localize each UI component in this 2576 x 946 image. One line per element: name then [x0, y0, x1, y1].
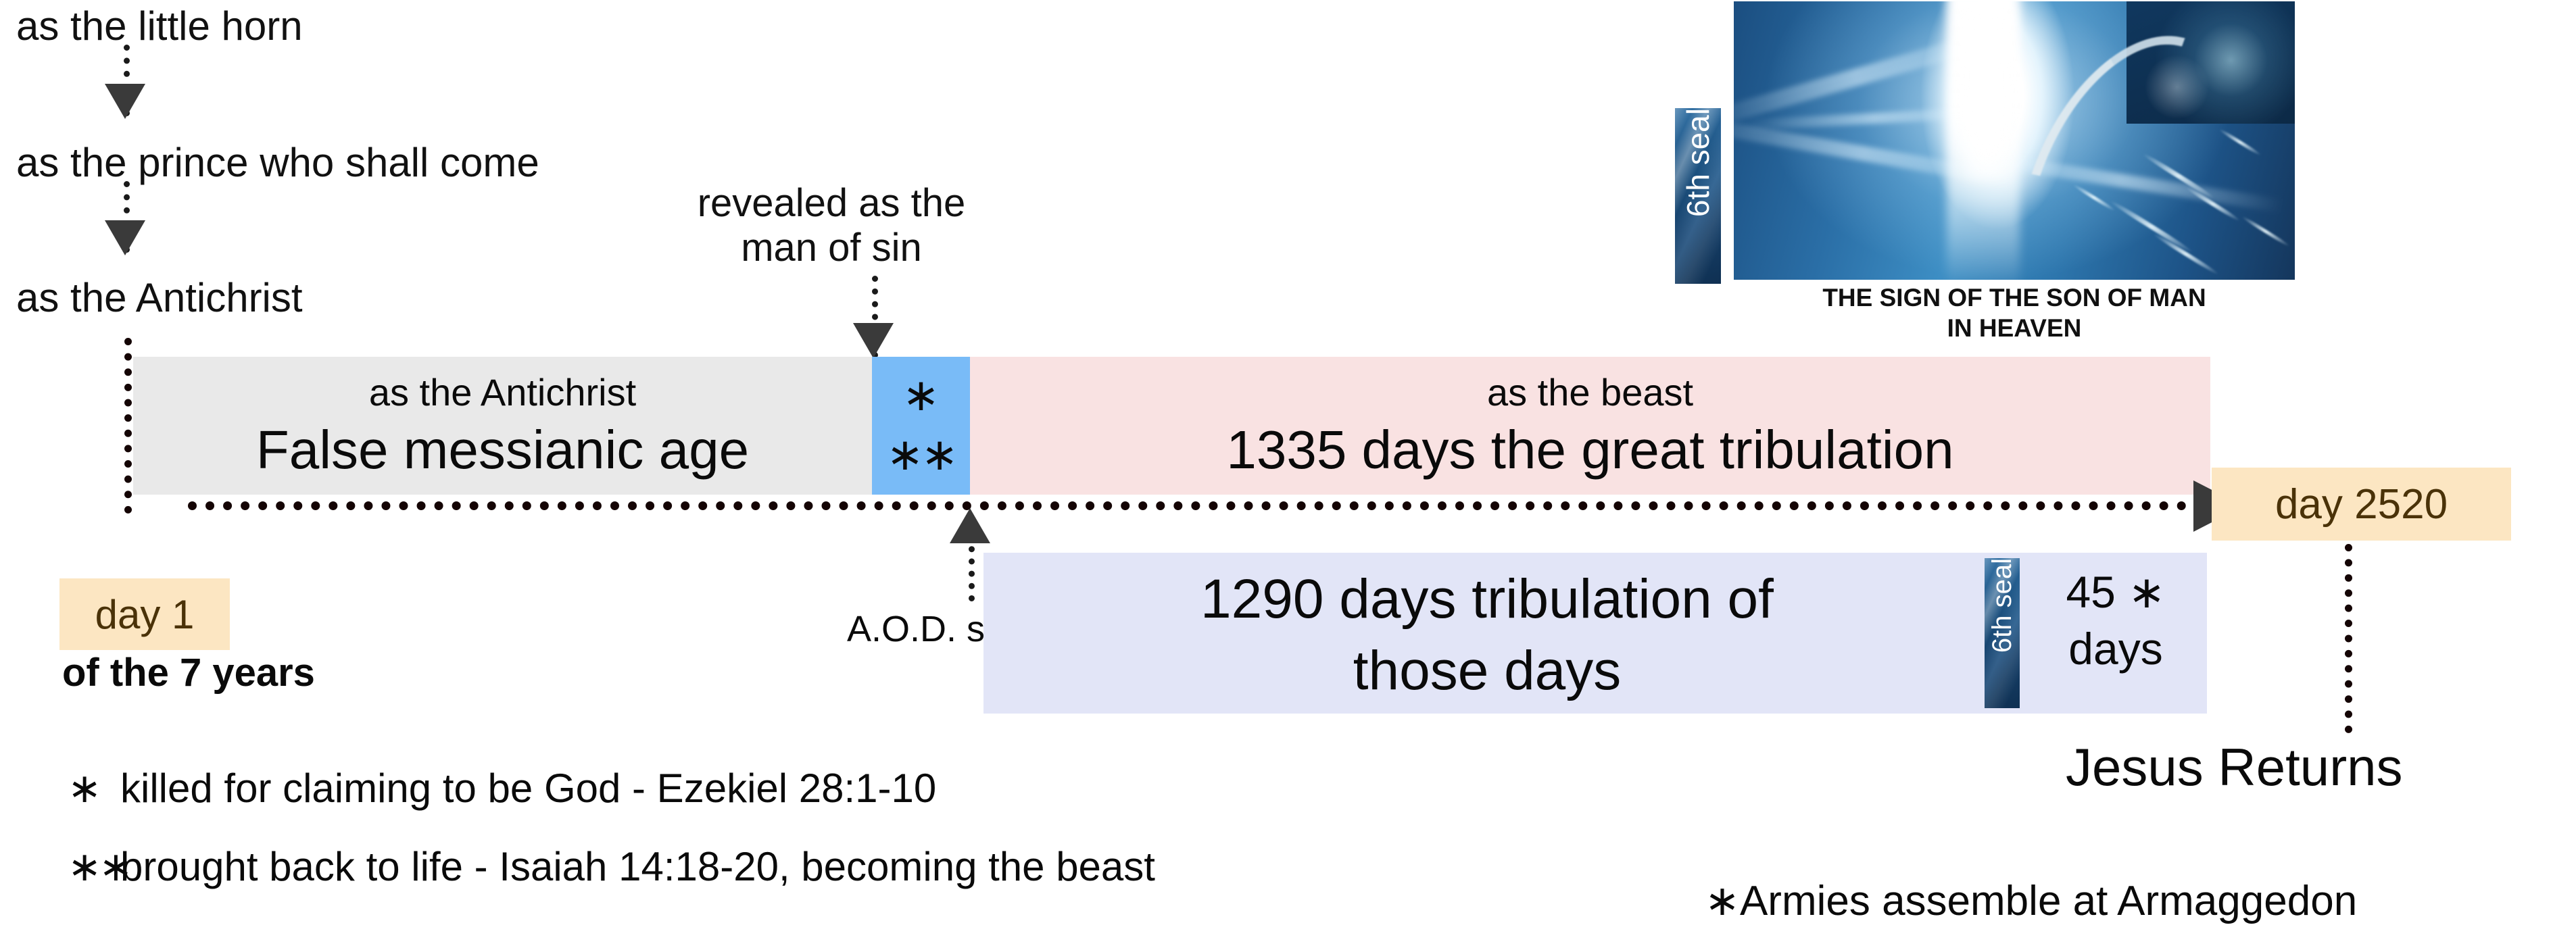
- pink-segment-line-2: 1335 days the great tribulation: [970, 419, 2210, 481]
- footnote-2-marker: ∗∗: [68, 843, 120, 891]
- 1290-days-segment: 1290 days tribulation of those days 6th …: [983, 553, 2207, 714]
- main-timeline-dotted-line: [188, 501, 2239, 510]
- day-2520-badge: day 2520: [2212, 468, 2511, 541]
- sign-of-son-of-man-image: [1734, 1, 2295, 280]
- footnote-double-asterisk: ∗∗brought back to life - Isaiah 14:18-20…: [68, 843, 1155, 891]
- lower-bar-6th-seal-tab: 6th seal: [1985, 558, 2020, 708]
- jesus-returns-label: Jesus Returns: [2066, 737, 2403, 798]
- false-messianic-age-segment: as the Antichrist False messianic age: [133, 357, 872, 495]
- chain-label-antichrist: as the Antichrist: [16, 274, 303, 321]
- chain-arrow-2: [120, 181, 130, 253]
- chain-arrow-1: [120, 45, 130, 116]
- great-tribulation-segment: as the beast 1335 days the great tribula…: [970, 357, 2210, 495]
- man-of-sin-arrow: [869, 276, 878, 358]
- day-2520-badge-label: day 2520: [2275, 480, 2448, 528]
- footnote-2-text: brought back to life - Isaiah 14:18-20, …: [120, 844, 1155, 889]
- footnote-1-marker: ∗: [68, 765, 120, 812]
- gray-segment-line-1: as the Antichrist: [133, 370, 872, 414]
- footnote-single-asterisk: ∗killed for claiming to be God - Ezekiel…: [68, 765, 936, 812]
- hero-6th-seal-tab: 6th seal: [1675, 108, 1721, 284]
- 45-days-tail: 45 ∗ days: [2028, 564, 2204, 678]
- man-of-sin-callout: revealed as the man of sin: [629, 181, 1034, 270]
- footnote-1-text: killed for claiming to be God - Ezekiel …: [120, 766, 936, 811]
- pink-segment-line-1: as the beast: [970, 370, 2210, 414]
- 45-days-line-1: 45 ∗: [2028, 564, 2204, 620]
- blue-segment-mark-single: ∗: [872, 369, 970, 421]
- hero-caption: THE SIGN OF THE SON OF MAN IN HEAVEN: [1734, 282, 2295, 343]
- lower-bar-line-1: 1290 days tribulation of: [983, 568, 1991, 631]
- gray-segment-line-2: False messianic age: [133, 419, 872, 481]
- 45-days-line-2: days: [2028, 620, 2204, 677]
- lower-bar-6th-seal-label: 6th seal: [1985, 558, 2020, 653]
- lower-bar-line-2: those days: [983, 639, 1991, 703]
- armageddon-note: ∗Armies assemble at Armaggedon: [1705, 876, 2357, 925]
- day-1-badge: day 1: [59, 578, 230, 650]
- seven-years-label: of the 7 years: [62, 650, 315, 695]
- chain-label-little-horn: as the little horn: [16, 3, 303, 49]
- jesus-returns-vertical-guide: [2345, 544, 2352, 733]
- blue-segment-mark-double: ∗∗: [872, 428, 970, 480]
- man-of-sin-line-1: revealed as the: [629, 181, 1034, 226]
- man-of-sin-line-2: man of sin: [629, 226, 1034, 270]
- hero-caption-line-2: IN HEAVEN: [1734, 313, 2295, 343]
- man-of-sin-blue-segment: ∗ ∗∗: [872, 357, 970, 495]
- hero-caption-line-1: THE SIGN OF THE SON OF MAN: [1734, 282, 2295, 313]
- aod-setup-arrow: [965, 508, 975, 601]
- day-1-badge-label: day 1: [95, 591, 195, 638]
- chain-label-prince: as the prince who shall come: [16, 139, 539, 186]
- hero-6th-seal-tab-label: 6th seal: [1675, 108, 1721, 217]
- start-vertical-guide: [124, 338, 132, 514]
